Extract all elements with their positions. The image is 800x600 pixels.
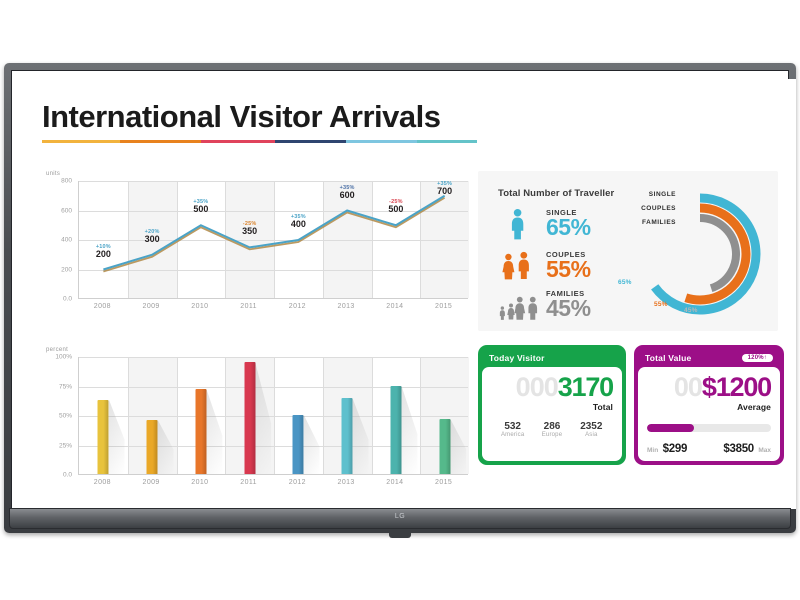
title-rule-segment-3 bbox=[275, 140, 346, 143]
title-rule-segment-0 bbox=[42, 140, 120, 143]
today-visitor-count: 3170 bbox=[558, 372, 613, 402]
total-value-min-amount: $299 bbox=[663, 443, 687, 455]
bar-column bbox=[439, 419, 450, 474]
x-tick: 2012 bbox=[289, 303, 306, 310]
title-rule-segment-1 bbox=[120, 140, 201, 143]
traveller-text: COUPLES55% bbox=[546, 251, 591, 282]
title-rule-segment-5 bbox=[417, 140, 477, 143]
today-visitor-regions: 532America286Europe2352Asia bbox=[491, 421, 613, 438]
total-value-max-amount: $3850 bbox=[723, 443, 753, 455]
x-tick: 2014 bbox=[386, 303, 403, 310]
bar-column bbox=[342, 398, 353, 474]
total-value-progress-fill bbox=[647, 424, 694, 432]
bar-chart-y-ticks: 100%75%50%25%0.0 bbox=[38, 357, 72, 475]
line-point-label: -25%500 bbox=[388, 199, 403, 214]
radial-arc-families bbox=[700, 218, 736, 288]
monitor-screen-area: International Visitor Arrivals units 800… bbox=[11, 70, 789, 509]
total-value-number: 00$1200 bbox=[647, 375, 771, 401]
visitor-region-value: 286 bbox=[532, 421, 571, 432]
total-value-caption: Average bbox=[647, 402, 771, 412]
traveller-text: SINGLE65% bbox=[546, 209, 591, 240]
total-value-min-label: Min bbox=[647, 447, 658, 454]
visitor-region-america: 532America bbox=[493, 421, 532, 438]
traveller-percent: 45% bbox=[546, 297, 591, 320]
traveller-percent: 65% bbox=[546, 216, 591, 239]
bar bbox=[342, 398, 353, 474]
traveller-row-couples: COUPLES55% bbox=[498, 249, 591, 283]
total-value-title: Total Value bbox=[645, 353, 691, 363]
x-tick: 2010 bbox=[191, 479, 208, 486]
line-point-label: +35%400 bbox=[291, 214, 306, 229]
visitor-region-name: Europe bbox=[532, 432, 571, 438]
today-visitor-card-body: 0003170 Total 532America286Europe2352Asi… bbox=[482, 367, 622, 461]
line-point-value: 700 bbox=[437, 187, 452, 196]
radial-legend-couples: COUPLES bbox=[641, 205, 676, 212]
dashboard-screen: International Visitor Arrivals units 800… bbox=[20, 79, 796, 509]
line-chart-plot-area: +10%200+20%300+35%500-25%350+35%400+35%6… bbox=[78, 181, 468, 299]
monitor-stand-nub bbox=[389, 532, 411, 538]
x-tick: 2014 bbox=[386, 479, 403, 486]
total-value-max: $3850 Max bbox=[723, 439, 771, 457]
y-tick: 100% bbox=[42, 354, 72, 361]
line-chart-x-ticks: 20082009201020112012201320142015 bbox=[78, 303, 468, 315]
bar-shadow bbox=[304, 415, 320, 474]
visitor-region-value: 532 bbox=[493, 421, 532, 432]
traveller-percent: 55% bbox=[546, 258, 591, 281]
today-visitor-number: 0003170 bbox=[491, 375, 613, 401]
x-tick: 2011 bbox=[240, 303, 257, 310]
radial-value-single: 65% bbox=[618, 279, 632, 286]
line-chart-series bbox=[79, 181, 469, 299]
traveller-row-families: FAMILIES45% bbox=[498, 288, 591, 322]
line-point-label: +10%200 bbox=[96, 244, 111, 259]
y-tick: 800 bbox=[42, 178, 72, 185]
monitor-frame: International Visitor Arrivals units 800… bbox=[4, 63, 796, 533]
today-visitor-leading-zeros: 000 bbox=[516, 372, 558, 402]
line-point-label: -25%350 bbox=[242, 221, 257, 236]
line-point-value: 600 bbox=[340, 191, 355, 200]
bar-shadow bbox=[206, 389, 222, 474]
radial-value-couples: 55% bbox=[654, 301, 668, 308]
x-tick: 2009 bbox=[143, 303, 160, 310]
y-tick: 75% bbox=[42, 383, 72, 390]
x-tick: 2008 bbox=[94, 303, 111, 310]
total-value-card-header: Total Value 120%↑ bbox=[638, 349, 780, 367]
bar-column bbox=[147, 420, 158, 474]
line-point-value: 200 bbox=[96, 250, 111, 259]
x-tick: 2013 bbox=[338, 479, 355, 486]
x-tick: 2011 bbox=[240, 479, 257, 486]
line-point-value: 300 bbox=[145, 235, 160, 244]
grid-hline bbox=[79, 357, 468, 358]
single-person-icon bbox=[498, 207, 540, 241]
visitor-region-asia: 2352Asia bbox=[572, 421, 611, 438]
x-tick: 2015 bbox=[435, 303, 452, 310]
visitor-region-europe: 286Europe bbox=[532, 421, 571, 438]
line-chart-y-axis-unit: units bbox=[46, 171, 60, 177]
bar-shadow bbox=[401, 386, 417, 475]
bar-chart-plot-area bbox=[78, 357, 468, 475]
title-underline-rule bbox=[42, 140, 477, 143]
bar-column bbox=[293, 415, 304, 474]
total-value-min: Min $299 bbox=[647, 439, 687, 457]
bar bbox=[390, 386, 401, 475]
line-point-value: 400 bbox=[291, 220, 306, 229]
traveller-row-single: SINGLE65% bbox=[498, 207, 591, 241]
bar-column bbox=[195, 389, 206, 474]
x-tick: 2009 bbox=[143, 479, 160, 486]
line-point-value: 350 bbox=[242, 227, 257, 236]
bar-shadow bbox=[109, 400, 125, 474]
total-value-trend-badge: 120%↑ bbox=[742, 354, 773, 362]
total-value-min-max: Min $299 $3850 Max bbox=[647, 439, 771, 457]
traveller-panel-title: Total Number of Traveller bbox=[498, 188, 614, 199]
x-tick: 2013 bbox=[338, 303, 355, 310]
traveller-panel: Total Number of Traveller SINGLE65%COUPL… bbox=[478, 171, 778, 331]
bar-chart-x-ticks: 20082009201020112012201320142015 bbox=[78, 479, 468, 491]
today-visitor-title: Today Visitor bbox=[489, 353, 545, 363]
title-rule-segment-4 bbox=[346, 140, 417, 143]
bar bbox=[244, 362, 255, 474]
line-point-label: +35%500 bbox=[193, 199, 208, 214]
title-rule-segment-2 bbox=[201, 140, 275, 143]
x-tick: 2015 bbox=[435, 479, 452, 486]
total-value-leading-zeros: 00 bbox=[674, 372, 702, 402]
y-tick: 400 bbox=[42, 237, 72, 244]
today-visitor-card[interactable]: Today Visitor 0003170 Total 532America28… bbox=[478, 345, 626, 465]
x-tick: 2010 bbox=[191, 303, 208, 310]
y-tick: 25% bbox=[42, 442, 72, 449]
y-tick: 50% bbox=[42, 413, 72, 420]
y-tick: 0.0 bbox=[42, 296, 72, 303]
y-tick: 600 bbox=[42, 207, 72, 214]
line-point-value: 500 bbox=[193, 205, 208, 214]
bar-column bbox=[244, 362, 255, 474]
total-value-amount: $1200 bbox=[702, 372, 771, 402]
bar bbox=[147, 420, 158, 474]
bar bbox=[439, 419, 450, 474]
x-tick: 2008 bbox=[94, 479, 111, 486]
visitor-region-value: 2352 bbox=[572, 421, 611, 432]
radial-value-families: 45% bbox=[684, 307, 698, 314]
line-point-label: +35%600 bbox=[340, 185, 355, 200]
radial-legend-single: SINGLE bbox=[649, 191, 676, 198]
line-point-value: 500 bbox=[388, 205, 403, 214]
bar bbox=[293, 415, 304, 474]
total-value-max-label: Max bbox=[758, 447, 771, 454]
x-tick: 2012 bbox=[289, 479, 306, 486]
bar-chart-panel: percent 100%75%50%25%0.0 200820092010201… bbox=[38, 347, 468, 502]
visitor-region-name: America bbox=[493, 432, 532, 438]
y-tick: 0.0 bbox=[42, 472, 72, 479]
today-visitor-caption: Total bbox=[491, 402, 613, 412]
total-value-card[interactable]: Total Value 120%↑ 00$1200 Average Min $2… bbox=[634, 345, 784, 465]
visitor-region-name: Asia bbox=[572, 432, 611, 438]
line-point-label: +20%300 bbox=[145, 229, 160, 244]
radial-legend-families: FAMILIES bbox=[642, 219, 676, 226]
bar-column bbox=[98, 400, 109, 474]
line-chart-panel: units 8006004002000.0 +10%200+20%300+35%… bbox=[38, 171, 468, 331]
couple-icon bbox=[498, 249, 540, 283]
today-visitor-card-header: Today Visitor bbox=[482, 349, 622, 367]
bar bbox=[98, 400, 109, 474]
line-point-label: +35%700 bbox=[437, 181, 452, 196]
y-tick: 200 bbox=[42, 266, 72, 273]
page-title: International Visitor Arrivals bbox=[42, 101, 482, 132]
line-chart-y-ticks: 8006004002000.0 bbox=[38, 181, 72, 299]
title-block: International Visitor Arrivals bbox=[42, 101, 482, 143]
lg-logo: LG bbox=[395, 513, 405, 520]
traveller-text: FAMILIES45% bbox=[546, 290, 591, 321]
bar-column bbox=[390, 386, 401, 475]
monitor-bottom-bezel: LG bbox=[9, 508, 791, 529]
bar bbox=[195, 389, 206, 474]
family-icon bbox=[498, 288, 540, 322]
traveller-radial-chart: SINGLECOUPLESFAMILIES65%55%45% bbox=[622, 179, 772, 329]
bar-chart-y-axis-unit: percent bbox=[46, 347, 68, 353]
total-value-progress-track bbox=[647, 424, 771, 432]
grid-hline bbox=[79, 387, 468, 388]
total-value-card-body: 00$1200 Average Min $299 $3850 Max bbox=[638, 367, 780, 461]
